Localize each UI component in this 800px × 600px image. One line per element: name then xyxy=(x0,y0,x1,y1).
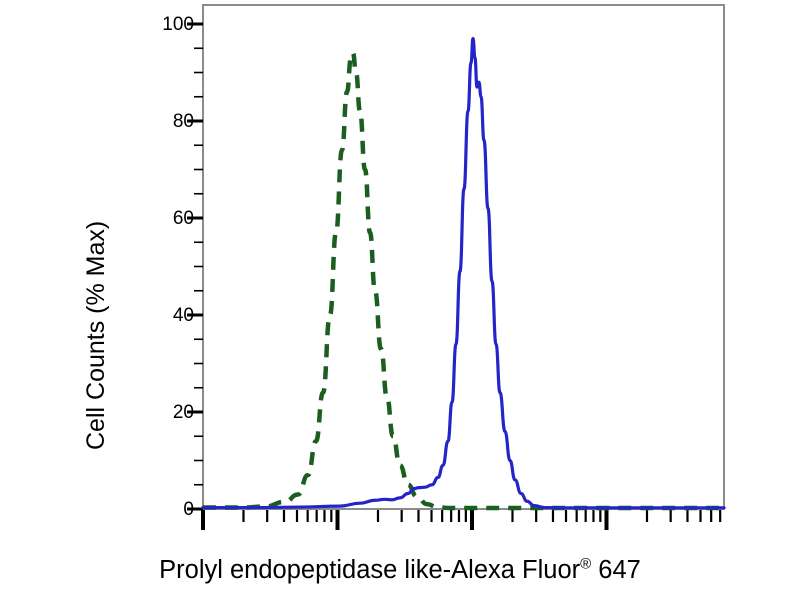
x-axis-label: Prolyl endopeptidase like-Alexa Fluor® 6… xyxy=(0,556,800,585)
y-tick-label-0: 0 xyxy=(148,499,194,521)
plot-frame xyxy=(203,5,724,509)
series-line-sample xyxy=(203,39,724,508)
y-tick-label-60: 60 xyxy=(148,208,194,230)
y-axis-ticks xyxy=(187,24,203,509)
flow-cytometry-figure: Cell Counts (% Max) Prolyl endopeptidase… xyxy=(0,0,800,600)
registered-trademark-icon: ® xyxy=(580,556,591,573)
y-tick-label-20: 20 xyxy=(148,402,194,424)
series-line-control xyxy=(203,53,724,508)
x-axis-ticks xyxy=(203,510,720,530)
y-tick-label-80: 80 xyxy=(148,111,194,133)
x-axis-label-text: Prolyl endopeptidase like-Alexa Fluor xyxy=(159,556,580,584)
x-axis-label-suffix: 647 xyxy=(598,556,641,584)
y-tick-label-100: 100 xyxy=(148,14,194,36)
y-axis-label: Cell Counts (% Max) xyxy=(82,0,122,450)
y-tick-label-40: 40 xyxy=(148,305,194,327)
